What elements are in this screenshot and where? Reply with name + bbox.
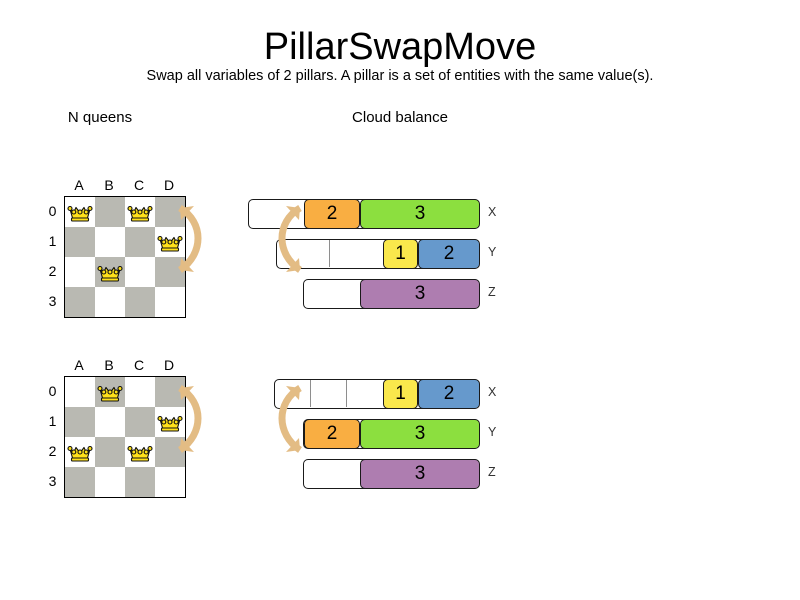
bar-segment-process[interactable]: 2 [304,199,360,229]
bar-segment-process[interactable]: 1 [383,239,418,269]
board-swap-arrow-bottom [168,376,212,462]
rank-label-0: 0 [44,196,61,226]
section-label-n-queens: N queens [20,109,180,126]
board-cell[interactable] [65,377,95,407]
bar-segment-empty[interactable] [330,240,383,267]
board-cell[interactable] [125,197,155,227]
board-cell[interactable] [65,407,95,437]
computer-label-x: X [488,385,496,399]
queen-icon [67,201,93,223]
board-cell[interactable] [125,437,155,467]
page-subtitle: Swap all variables of 2 pillars. A pilla… [0,68,800,84]
rank-labels: 0123 [44,376,61,498]
board-cell[interactable] [95,257,125,287]
cloud-row-y-after: 23Y [303,419,479,449]
computer-label-y: Y [488,245,496,259]
board-cell[interactable] [155,287,185,317]
rank-label-1: 1 [44,226,61,256]
computer-label-z: Z [488,285,496,299]
cloud-swap-arrow-top [268,196,312,282]
board-cell[interactable] [125,407,155,437]
cloud-row-z-before: 3Z [303,279,479,309]
file-label-B: B [94,177,124,194]
board-cell[interactable] [65,467,95,497]
file-labels: ABCD [64,357,186,374]
file-label-D: D [154,357,184,374]
file-label-C: C [124,357,154,374]
board-cell[interactable] [125,227,155,257]
board-cell[interactable] [95,377,125,407]
board-cell[interactable] [65,287,95,317]
rank-label-3: 3 [44,286,61,316]
board-swap-arrow-top [168,196,212,282]
board-cell[interactable] [125,287,155,317]
board-cell[interactable] [95,227,125,257]
bar-segment-process[interactable]: 3 [360,459,480,489]
board-cell[interactable] [125,377,155,407]
board-cell[interactable] [125,467,155,497]
rank-label-3: 3 [44,466,61,496]
bar-segment-empty[interactable] [311,380,347,407]
board-cell[interactable] [95,467,125,497]
bar-segment-process[interactable]: 3 [360,419,480,449]
computer-label-x: X [488,205,496,219]
board-cell[interactable] [95,197,125,227]
board-cell[interactable] [95,287,125,317]
board-cell[interactable] [65,227,95,257]
capacity-bar: 3 [303,279,479,309]
cloud-swap-arrow-bottom [268,376,312,462]
bar-segment-process[interactable]: 2 [304,419,360,449]
bar-segment-process[interactable]: 3 [360,279,480,309]
queen-icon [97,261,123,283]
bar-segment-process[interactable]: 2 [418,239,480,269]
file-labels: ABCD [64,177,186,194]
board-cell[interactable] [95,437,125,467]
computer-label-z: Z [488,465,496,479]
queen-icon [127,441,153,463]
cloud-row-z-after: 3Z [303,459,479,489]
file-label-D: D [154,177,184,194]
section-label-cloud-balance: Cloud balance [320,109,480,126]
rank-label-1: 1 [44,406,61,436]
queen-icon [97,381,123,403]
rank-label-2: 2 [44,256,61,286]
board-cell[interactable] [65,197,95,227]
bar-segment-empty[interactable] [347,380,383,407]
rank-label-0: 0 [44,376,61,406]
file-label-A: A [64,357,94,374]
queen-icon [127,201,153,223]
file-label-C: C [124,177,154,194]
queen-icon [67,441,93,463]
computer-label-y: Y [488,425,496,439]
page-title: PillarSwapMove [0,26,800,69]
bar-segment-empty[interactable] [304,460,360,487]
bar-segment-empty[interactable] [304,280,360,307]
board-cell[interactable] [65,257,95,287]
board-cell[interactable] [95,407,125,437]
file-label-B: B [94,357,124,374]
rank-labels: 0123 [44,196,61,318]
capacity-bar: 3 [303,459,479,489]
board-cell[interactable] [65,437,95,467]
capacity-bar: 23 [303,419,479,449]
board-cell[interactable] [155,467,185,497]
bar-segment-process[interactable]: 2 [418,379,480,409]
file-label-A: A [64,177,94,194]
board-cell[interactable] [125,257,155,287]
diagram-canvas: PillarSwapMove Swap all variables of 2 p… [0,0,800,600]
rank-label-2: 2 [44,436,61,466]
bar-segment-process[interactable]: 1 [383,379,418,409]
bar-segment-process[interactable]: 3 [360,199,480,229]
